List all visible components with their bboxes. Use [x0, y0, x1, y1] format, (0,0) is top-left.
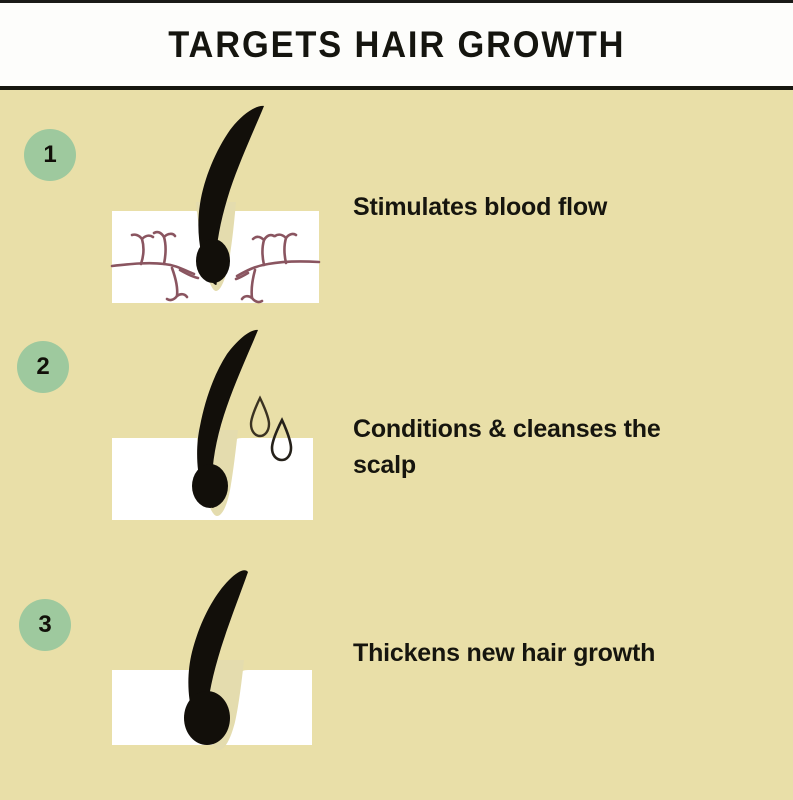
step-row-1: 1 — [0, 90, 793, 330]
step-caption-3: Thickens new hair growth — [353, 636, 753, 672]
step-row-2: 2 Conditions & cleanses the scalp — [0, 320, 793, 570]
step-number-label-2: 2 — [36, 355, 49, 379]
step-number-badge-2: 2 — [17, 341, 69, 393]
step-caption-3-line-1: Thickens new hair growth — [353, 636, 753, 672]
step-number-label-1: 1 — [43, 143, 56, 167]
step-number-badge-1: 1 — [24, 129, 76, 181]
step-caption-1: Stimulates blood flow — [353, 190, 753, 226]
thick-hair-follicle-icon — [108, 560, 333, 760]
step-caption-2-line-1: Conditions & cleanses the — [353, 412, 718, 448]
step-row-3: 3 Thickens new hair growth — [0, 560, 793, 800]
hair-follicle-with-water-drops-icon — [108, 320, 323, 550]
step-number-label-3: 3 — [38, 613, 51, 637]
hair-follicle-with-blood-vessels-icon — [108, 98, 323, 323]
infographic-canvas: TARGETS HAIR GROWTH 1 — [0, 0, 793, 800]
header-band: TARGETS HAIR GROWTH — [0, 3, 793, 86]
step-caption-2-line-2: scalp — [353, 448, 718, 484]
step-number-badge-3: 3 — [19, 599, 71, 651]
page-title: TARGETS HAIR GROWTH — [168, 24, 625, 66]
step-caption-1-line-1: Stimulates blood flow — [353, 190, 753, 226]
step-caption-2: Conditions & cleanses the scalp — [353, 412, 718, 483]
